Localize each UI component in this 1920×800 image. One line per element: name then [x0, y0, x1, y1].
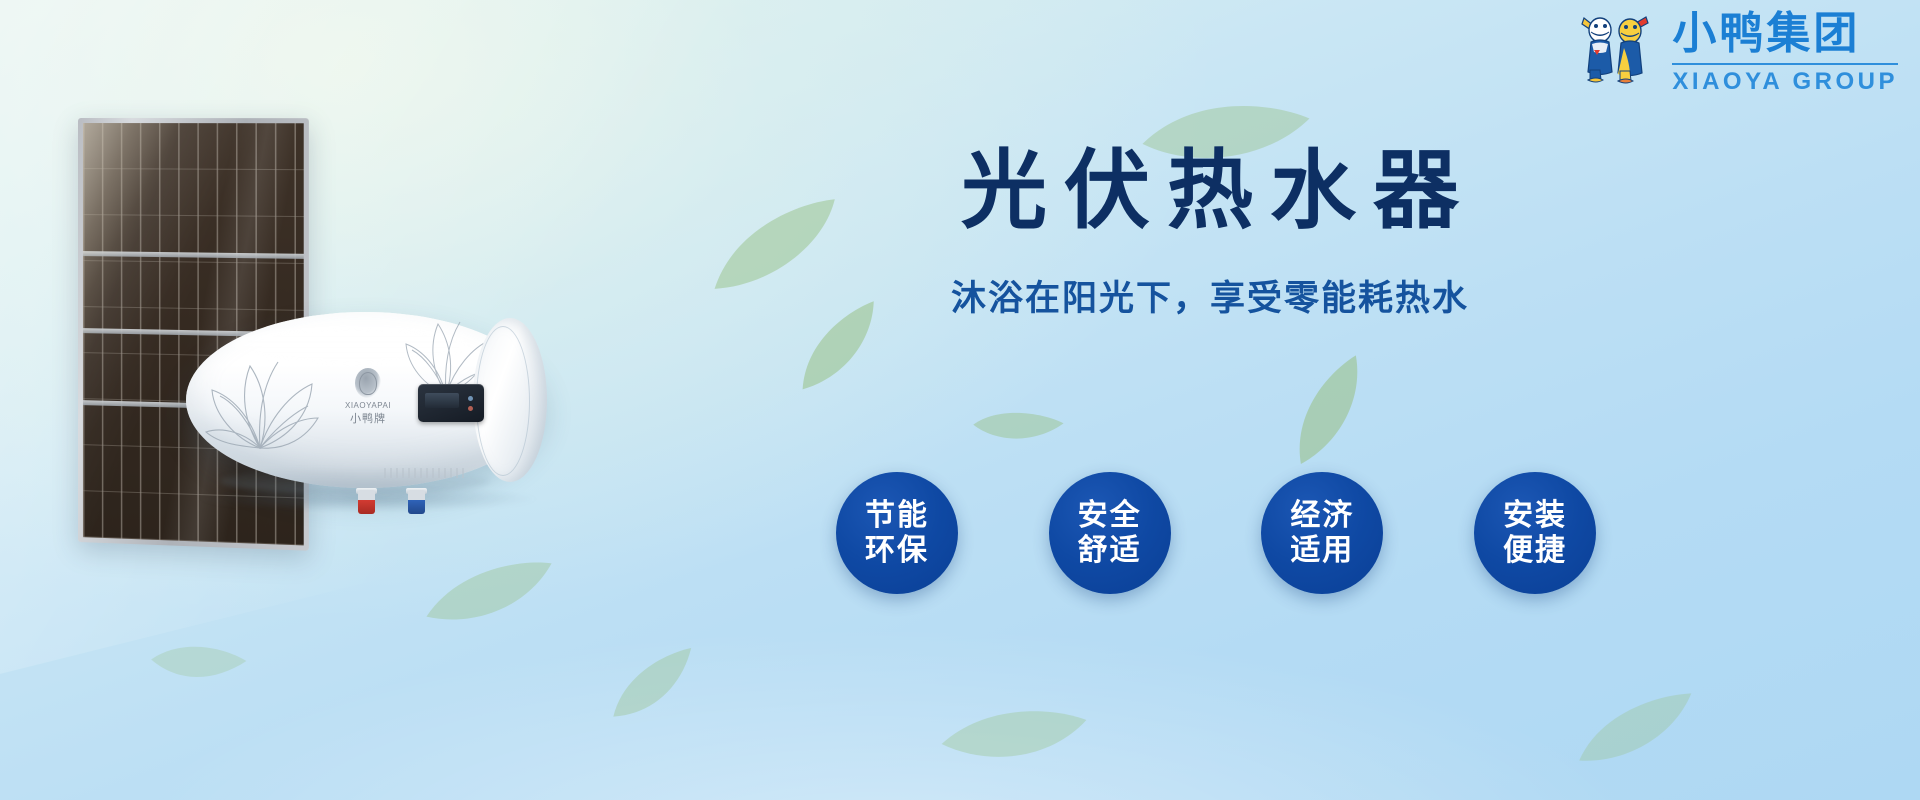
- leaf-icon: [1565, 685, 1705, 771]
- feature-badge-line2: 环保: [865, 533, 929, 568]
- feature-badge-line1: 安全: [1078, 498, 1142, 533]
- feature-badge-line2: 舒适: [1078, 533, 1142, 568]
- feature-badge-list: 节能 环保 安全 舒适 经济 适用 安装 便捷: [836, 468, 1596, 598]
- feature-badge[interactable]: 节能 环保: [836, 472, 958, 594]
- horizontal-water-heater-tank: XIAOYAPAI 小鸭牌: [186, 312, 544, 502]
- feature-badge-line1: 节能: [865, 498, 929, 533]
- hot-water-pipe: [358, 490, 375, 514]
- feature-badge-line1: 经济: [1290, 498, 1354, 533]
- feature-badge-line2: 适用: [1290, 533, 1354, 568]
- display-indicator-dot: [468, 406, 473, 411]
- page-title: 光伏热水器: [860, 148, 1560, 234]
- display-screen: [425, 393, 459, 408]
- leaf-icon: [936, 690, 1091, 774]
- logo-company-en: XIAOYA GROUP: [1672, 70, 1898, 94]
- feature-badge[interactable]: 安全 舒适: [1049, 472, 1171, 594]
- feature-badge[interactable]: 经济 适用: [1261, 472, 1383, 594]
- feature-badge[interactable]: 安装 便捷: [1474, 472, 1596, 594]
- logo-text-block: 小鸭集团 XIAOYA GROUP: [1672, 4, 1898, 94]
- leaf-icon: [595, 641, 709, 725]
- tank-end-cap-ring: [476, 326, 530, 476]
- leaf-icon: [146, 626, 250, 696]
- leaf-icon: [969, 399, 1066, 453]
- display-indicator-dot: [468, 396, 473, 401]
- leaf-icon: [693, 189, 857, 302]
- page-subtitle: 沐浴在阳光下，享受零能耗热水: [860, 278, 1560, 320]
- tank-vent-lines: [384, 468, 468, 478]
- duck-logo-icon: [355, 368, 381, 398]
- feature-badge-line1: 安装: [1503, 498, 1567, 533]
- company-logo[interactable]: 小鸭集团 XIAOYA GROUP: [1574, 4, 1898, 94]
- leaf-icon: [417, 553, 561, 627]
- brand-latin-text: XIAOYAPAI: [338, 401, 398, 411]
- promo-banner: XIAOYAPAI 小鸭牌: [0, 0, 1920, 800]
- xiaoya-duck-mascots-icon: [1574, 4, 1662, 92]
- tank-highlight: [232, 326, 472, 364]
- cold-water-pipe: [408, 490, 425, 514]
- brand-cn-text: 小鸭牌: [338, 413, 398, 427]
- feature-badge-line2: 便捷: [1503, 533, 1567, 568]
- logo-company-cn: 小鸭集团: [1672, 12, 1898, 56]
- logo-divider: [1672, 63, 1898, 65]
- control-display-panel[interactable]: [418, 384, 484, 422]
- brand-mark: XIAOYAPAI 小鸭牌: [338, 368, 398, 434]
- leaf-icon: [1265, 348, 1390, 472]
